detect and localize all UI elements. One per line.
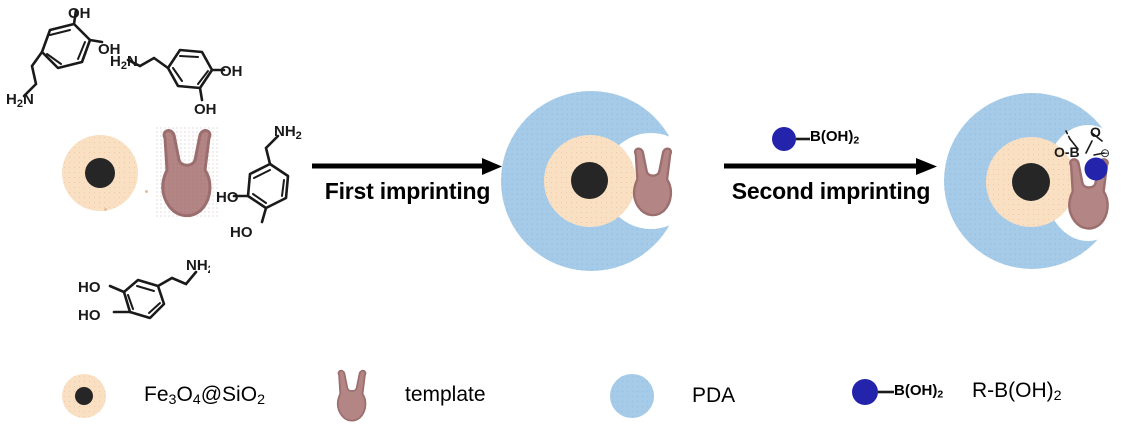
legend-label-pda: PDA (692, 384, 735, 408)
structure-second-imprint-product: O O-B ⊖ (944, 83, 1133, 279)
atom-label-oh: OH (220, 63, 242, 80)
structure-first-imprint-product (501, 83, 697, 279)
boronic-acid-icon-label: B(OH)2 (894, 382, 943, 401)
magnetite-core (85, 158, 115, 188)
magnetite-core (571, 162, 608, 199)
atom-label-nh2: NH2 (274, 124, 302, 142)
atom-label-oh: OH (194, 101, 217, 118)
atom-label-ho: HO (216, 189, 239, 206)
arrow-first-imprinting: First imprinting (310, 156, 505, 212)
template-shape (155, 126, 219, 218)
atom-label-ho: HO (78, 279, 101, 296)
legend-label-fe3o4-sio2: Fe3O4@SiO2 (144, 383, 265, 408)
atom-label-oh: OH (68, 5, 91, 22)
atom-label-o: O (1090, 124, 1101, 140)
reagent-boronic-acid: B(OH)2 (770, 126, 890, 152)
legend: Fe3O4@SiO2 template PDA (0, 366, 1133, 436)
template-body (163, 131, 210, 216)
legend-item-pda: PDA (610, 374, 735, 418)
pda-texture (610, 374, 654, 418)
arrow-label-first-imprinting: First imprinting (310, 178, 505, 205)
atom-label-nh2: NH2 (186, 257, 210, 276)
molecule-dopamine-top-left: OH OH H2N (6, 4, 122, 114)
atom-label-ho: HO (230, 224, 253, 241)
legend-label-template: template (405, 383, 486, 407)
atom-label-ho: HO (78, 307, 101, 324)
reagent-formula: B(OH)2 (810, 128, 859, 147)
arrow-second-imprinting: B(OH)2 Second imprinting (722, 126, 940, 212)
atom-label-o-b: O-B (1054, 144, 1080, 160)
legend-item-fe3o4-sio2: Fe3O4@SiO2 (62, 374, 265, 418)
speck (145, 190, 148, 193)
boron-ball-icon (1084, 157, 1108, 181)
legend-item-boronic-acid: B(OH)2 R-B(OH)2 (850, 378, 1062, 406)
particle-fe3o4-sio2-inner (544, 135, 636, 227)
pda-circle-icon (610, 374, 654, 418)
atom-label-h2n: H2N (110, 53, 138, 72)
template-body (338, 371, 366, 421)
template-body (634, 149, 671, 215)
template-shape-in-cavity (628, 145, 678, 217)
particle-fe3o4-sio2 (62, 135, 138, 211)
atom-label-h2n: H2N (6, 91, 34, 110)
magnetite-core (75, 387, 93, 405)
arrow-label-second-imprinting: Second imprinting (722, 178, 940, 205)
figure-canvas: OH OH H2N OH OH H2N (0, 0, 1133, 445)
template-shape-icon (333, 368, 371, 422)
molecule-dopamine-bottom-left: HO HO NH2 (74, 254, 210, 346)
legend-item-template: template (333, 368, 486, 422)
molecule-dopamine-top-middle: OH OH H2N (110, 30, 242, 122)
speck (104, 208, 107, 211)
legend-label-boronic-acid: R-B(OH)2 (972, 379, 1062, 404)
core-shell-particle-icon (62, 374, 106, 418)
boronic-acid-icon: B(OH)2 (850, 378, 960, 406)
